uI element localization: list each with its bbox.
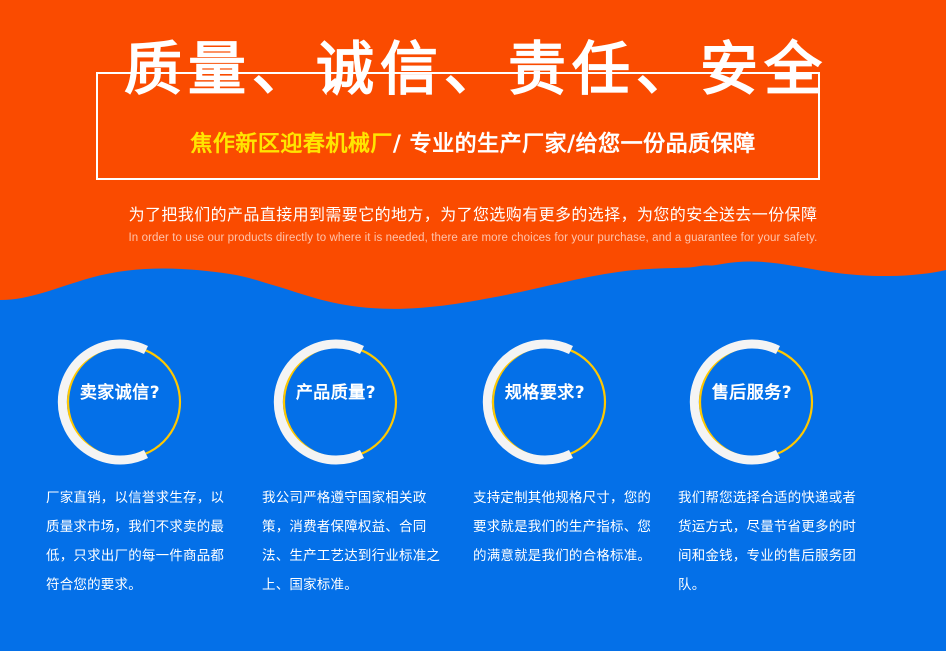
feature-description: 厂家直销，以信誉求生存，以质量求市场，我们不求卖的最低，只求出厂的每一件商品都符… [46, 484, 231, 600]
feature-badge: 售后服务? [682, 330, 822, 470]
feature-badge: 规格要求? [475, 330, 615, 470]
page-title: 质量、诚信、责任、安全 [0, 36, 946, 102]
feature-description: 支持定制其他规格尺寸，您的要求就是我们的生产指标、您的满意就是我们的合格标准。 [473, 484, 658, 571]
feature-description: 我公司严格遵守国家相关政策，消费者保障权益、合同法、生产工艺达到行业标准之上、国… [262, 484, 447, 600]
promo-banner: 质量、诚信、责任、安全 焦作新区迎春机械厂/ 专业的生产厂家/给您一份品质保障 … [0, 0, 946, 651]
feature-item: 售后服务? 我们帮您选择合适的快递或者货运方式，尽量节省更多的时间和金钱，专业的… [658, 330, 868, 600]
feature-item: 产品质量? 我公司严格遵守国家相关政策，消费者保障权益、合同法、生产工艺达到行业… [248, 330, 458, 600]
feature-badge: 卖家诚信? [50, 330, 190, 470]
company-subtitle: 焦作新区迎春机械厂/ 专业的生产厂家/给您一份品质保障 [0, 130, 946, 160]
feature-description: 我们帮您选择合适的快递或者货运方式，尽量节省更多的时间和金钱，专业的售后服务团队… [678, 484, 868, 600]
badge-label: 卖家诚信? [50, 382, 190, 404]
badge-label: 售后服务? [682, 382, 822, 404]
badge-label: 产品质量? [266, 382, 406, 404]
promise-text-english: In order to use our products directly to… [0, 230, 946, 246]
feature-item: 卖家诚信? 厂家直销，以信誉求生存，以质量求市场，我们不求卖的最低，只求出厂的每… [32, 330, 242, 600]
feature-list: 卖家诚信? 厂家直销，以信誉求生存，以质量求市场，我们不求卖的最低，只求出厂的每… [0, 330, 946, 651]
company-name: 焦作新区迎春机械厂 [190, 132, 393, 157]
company-tagline: / 专业的生产厂家/给您一份品质保障 [393, 132, 756, 157]
promise-text-chinese: 为了把我们的产品直接用到需要它的地方，为了您选购有更多的选择，为您的安全送去一份… [0, 203, 946, 227]
badge-label: 规格要求? [475, 382, 615, 404]
feature-item: 规格要求? 支持定制其他规格尺寸，您的要求就是我们的生产指标、您的满意就是我们的… [465, 330, 675, 571]
feature-badge: 产品质量? [266, 330, 406, 470]
hero-section: 质量、诚信、责任、安全 焦作新区迎春机械厂/ 专业的生产厂家/给您一份品质保障 … [0, 0, 946, 340]
